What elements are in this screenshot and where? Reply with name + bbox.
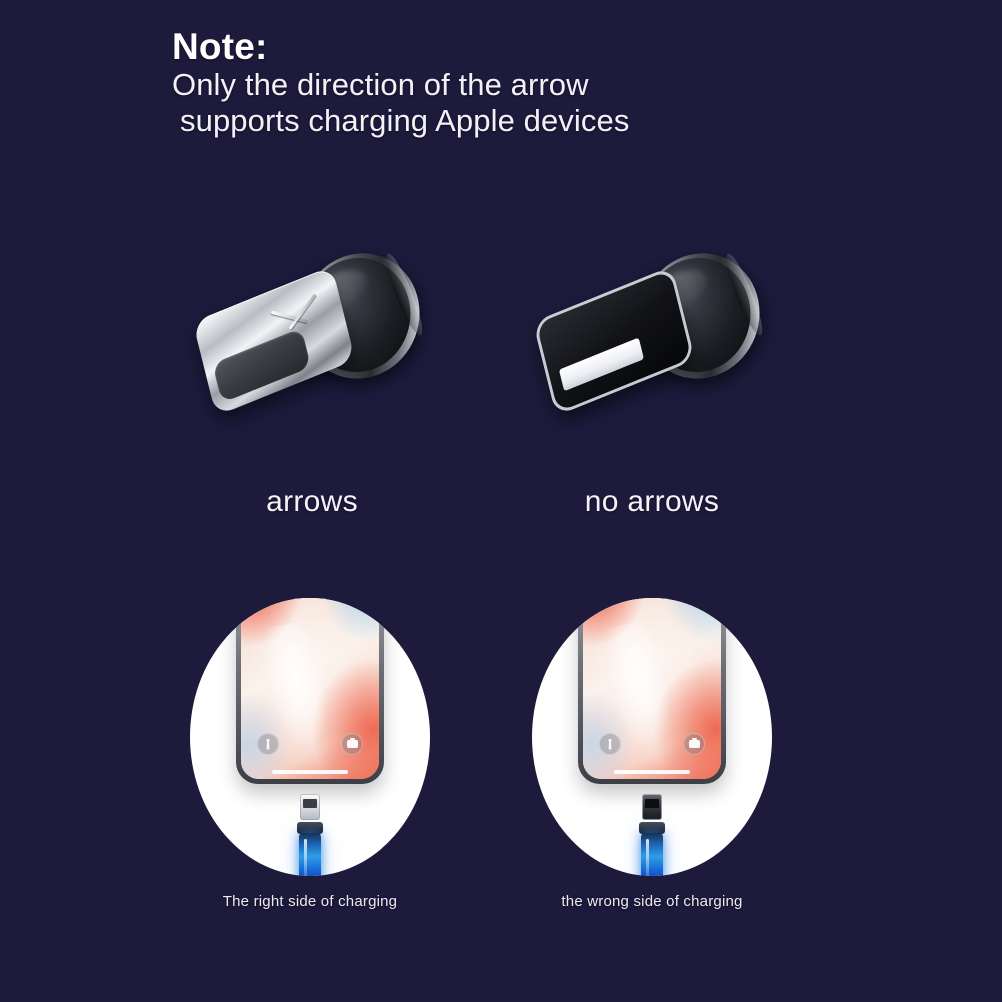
home-indicator [272,770,348,774]
home-indicator [614,770,690,774]
phone-screen [583,598,721,779]
phone-screen [241,598,379,779]
camera-icon [341,733,363,755]
lightning-blade-silver [193,266,356,416]
cable-tip-strip [645,799,659,808]
connector-art-no-arrows [537,243,767,423]
connector-comparison-row [0,228,1002,438]
note-line-1: Only the direction of the arrow [172,67,872,104]
caption-right-side: The right side of charging [110,893,510,910]
connector-no-arrows [482,228,822,438]
connector-with-arrows [142,228,482,438]
cable-body-glow [641,833,663,876]
flashlight-icon [257,733,279,755]
scene-right-side [160,588,460,888]
cable-tip-dark [642,794,662,820]
charging-scenario-row [0,588,1002,888]
flashlight-icon [599,733,621,755]
caption-wrong-side: the wrong side of charging [452,893,852,910]
magnetic-cable-wrong [639,794,665,876]
magnetic-cable-correct [297,794,323,876]
scene-wrong-side [502,588,802,888]
connector-label-no-arrows: no arrows [482,485,822,519]
cable-tip-strip [303,799,317,808]
note-line-2: supports charging Apple devices [180,103,872,140]
blade-dark-face [533,266,696,416]
cable-tip-silver [300,794,320,820]
scene-disc [532,598,772,876]
cable-body-glow [299,833,321,876]
note-title: Note: [172,28,872,67]
connector-label-arrows: arrows [142,485,482,519]
connector-art-arrows [197,243,427,423]
infographic-poster: Note: Only the direction of the arrow su… [0,0,1002,1002]
lightning-blade-black [533,266,696,416]
iphone-x-illustration [578,598,726,784]
camera-icon [683,733,705,755]
scene-disc [190,598,430,876]
note-block: Note: Only the direction of the arrow su… [172,28,872,140]
iphone-x-illustration [236,598,384,784]
